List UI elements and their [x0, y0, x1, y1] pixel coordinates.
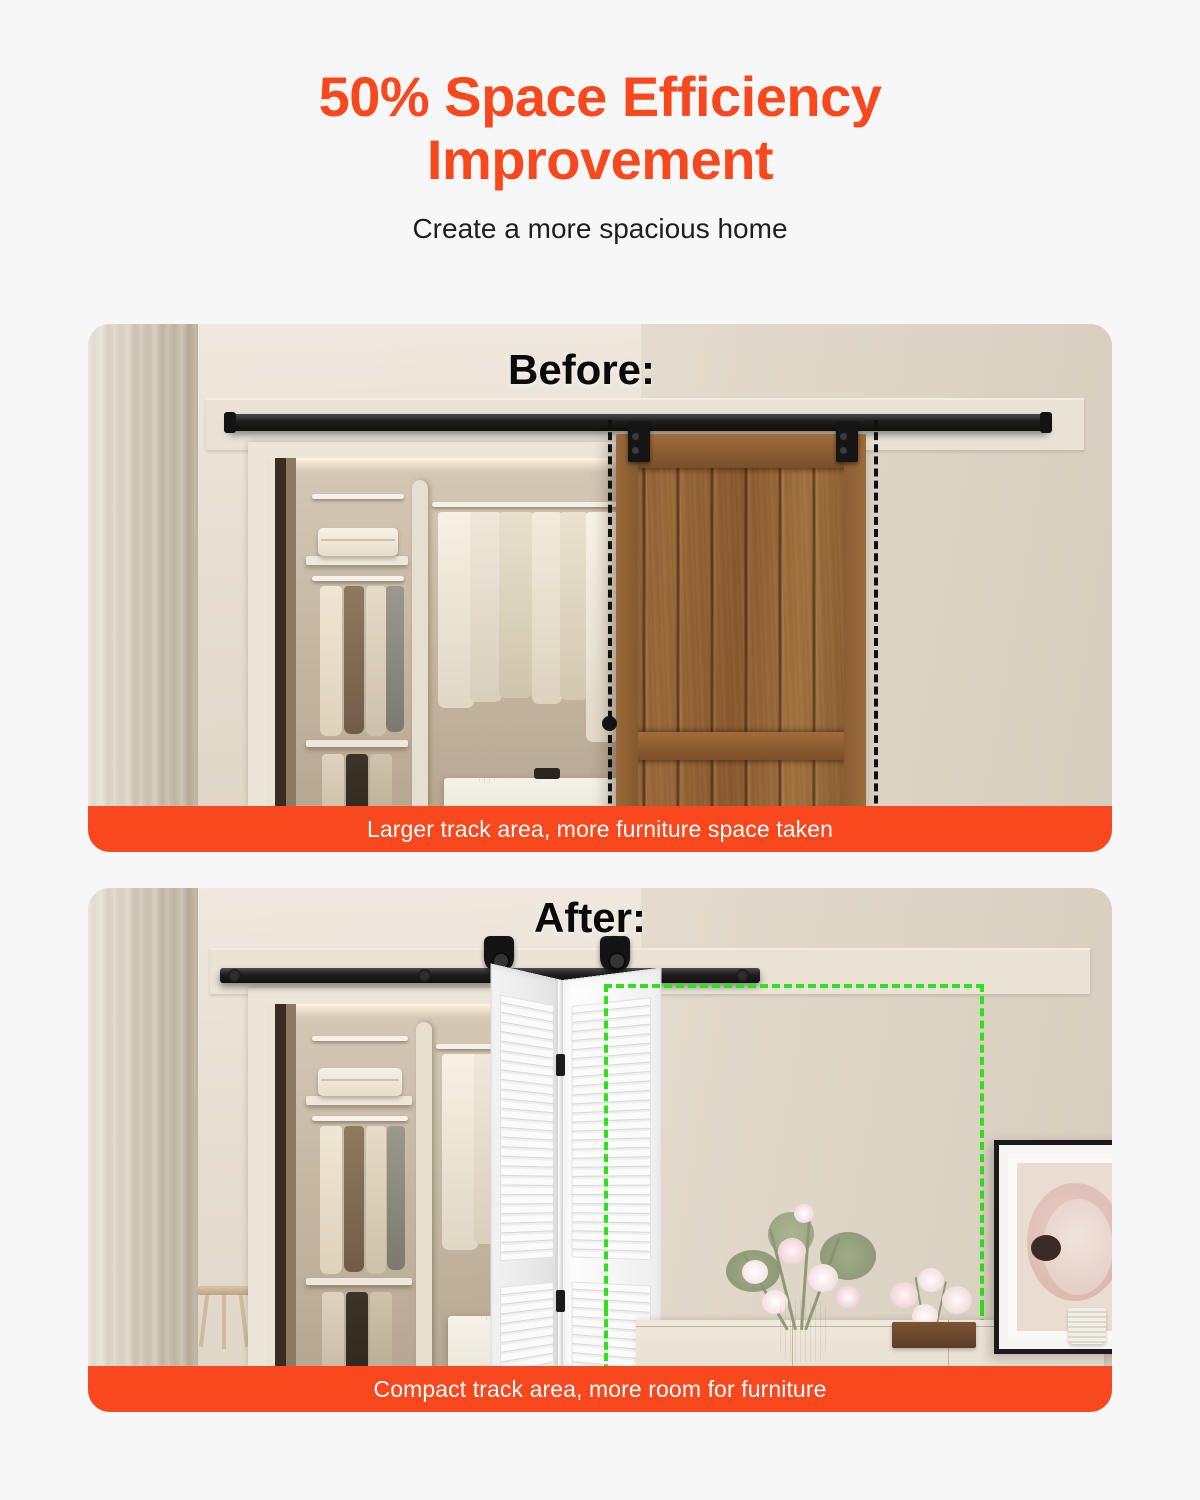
garment [387, 1126, 405, 1270]
garment [366, 586, 386, 736]
garment [438, 512, 474, 708]
door-right-stile [844, 434, 866, 852]
garment [442, 1054, 478, 1250]
flower-blossom [742, 1260, 768, 1284]
louver-slats [500, 994, 554, 1261]
small-dark-object [534, 768, 560, 779]
closet-shelf-left [306, 1096, 412, 1105]
bifold-hinge-upper [556, 1054, 565, 1076]
bifold-center-fold-edge [558, 980, 563, 1408]
garment [344, 586, 364, 734]
white-ribbed-vase [780, 1300, 826, 1362]
closet-rod-upper-left [312, 1036, 408, 1041]
flower-blossom [942, 1286, 972, 1314]
before-caption-text: Larger track area, more furniture space … [367, 816, 833, 843]
closet-shelf-lower-left [306, 1278, 412, 1285]
track-bolt [418, 969, 431, 982]
door-sweep-marker-right [874, 420, 878, 852]
closet-rod-mid-left [312, 576, 404, 581]
stool-leg [199, 1295, 209, 1347]
door-handle-dot [602, 716, 617, 731]
page-title: 50% Space Efficiency Improvement [0, 66, 1200, 191]
flower-blossom [918, 1268, 944, 1292]
comparison-panel-after: After: Compact track area, more room for… [88, 888, 1112, 1412]
page-subtitle: Create a more spacious home [0, 213, 1200, 245]
closet-rod-upper-left [312, 494, 404, 499]
after-label: After: [534, 894, 646, 942]
door-wood-grain [616, 434, 866, 852]
door-sweep-marker-left [608, 420, 612, 852]
stool-seat [196, 1286, 252, 1295]
curtain [88, 324, 198, 852]
wood-barn-door [616, 434, 866, 852]
garment [344, 1126, 364, 1272]
door-roller-hanger-right [836, 422, 858, 462]
track-end-cap-left [224, 412, 236, 433]
flower-blossom [890, 1282, 918, 1308]
comparison-panel-before: Before: Larger track area, more furnitur… [88, 324, 1112, 852]
closet-door-edge [266, 458, 296, 852]
stool-leg [222, 1295, 226, 1349]
title-line-2: Improvement [0, 129, 1200, 192]
after-caption-text: Compact track area, more room for furnit… [374, 1376, 827, 1403]
header: 50% Space Efficiency Improvement Create … [0, 0, 1200, 245]
flower-blossom [808, 1264, 838, 1292]
before-label: Before: [508, 346, 655, 394]
glass-vase [474, 728, 498, 784]
garment [366, 1126, 386, 1274]
wooden-storage-box [892, 1322, 976, 1348]
garment [532, 512, 562, 704]
after-scene-photo: After: [88, 888, 1112, 1412]
artwork-shape [1031, 1235, 1061, 1261]
curtain [88, 888, 198, 1412]
title-line-1: 50% Space Efficiency [0, 66, 1200, 129]
track-bolt [736, 969, 749, 982]
folded-linens [318, 1068, 402, 1096]
garment [386, 586, 404, 732]
closet-door-edge [266, 1004, 296, 1406]
garment [470, 512, 502, 702]
garment [320, 586, 342, 736]
door-top-rail [616, 434, 866, 468]
garment [320, 1126, 342, 1274]
garment [560, 512, 588, 700]
closet-vertical-divider [412, 480, 428, 852]
flower-blossom [778, 1238, 806, 1264]
woven-basket [1068, 1308, 1106, 1344]
artwork-canvas [1017, 1163, 1112, 1331]
door-roller-hanger-left [628, 422, 650, 462]
closet-rod-mid-left [312, 1116, 408, 1121]
closet-vertical-divider [416, 1022, 432, 1406]
closet-light-glow [266, 458, 654, 472]
door-mid-rail [616, 732, 866, 760]
after-caption-bar: Compact track area, more room for furnit… [88, 1366, 1112, 1412]
bifold-leaf-left [491, 963, 562, 1412]
bifold-hinge-lower [556, 1290, 565, 1312]
closet-opening [266, 458, 654, 852]
folded-linens [318, 528, 398, 556]
track-bolt [228, 969, 241, 982]
garment [499, 512, 533, 698]
door-left-stile [616, 434, 638, 852]
flower-blossom [794, 1204, 814, 1223]
closet-shelf-left [306, 556, 408, 565]
before-scene-photo: Before: [88, 324, 1112, 852]
track-end-cap-right [1040, 412, 1052, 433]
garment [586, 512, 620, 742]
wooden-stool [196, 1286, 252, 1348]
closet-shelf-lower-left [306, 740, 408, 747]
before-caption-bar: Larger track area, more furniture space … [88, 806, 1112, 852]
flower-blossom [836, 1286, 860, 1308]
